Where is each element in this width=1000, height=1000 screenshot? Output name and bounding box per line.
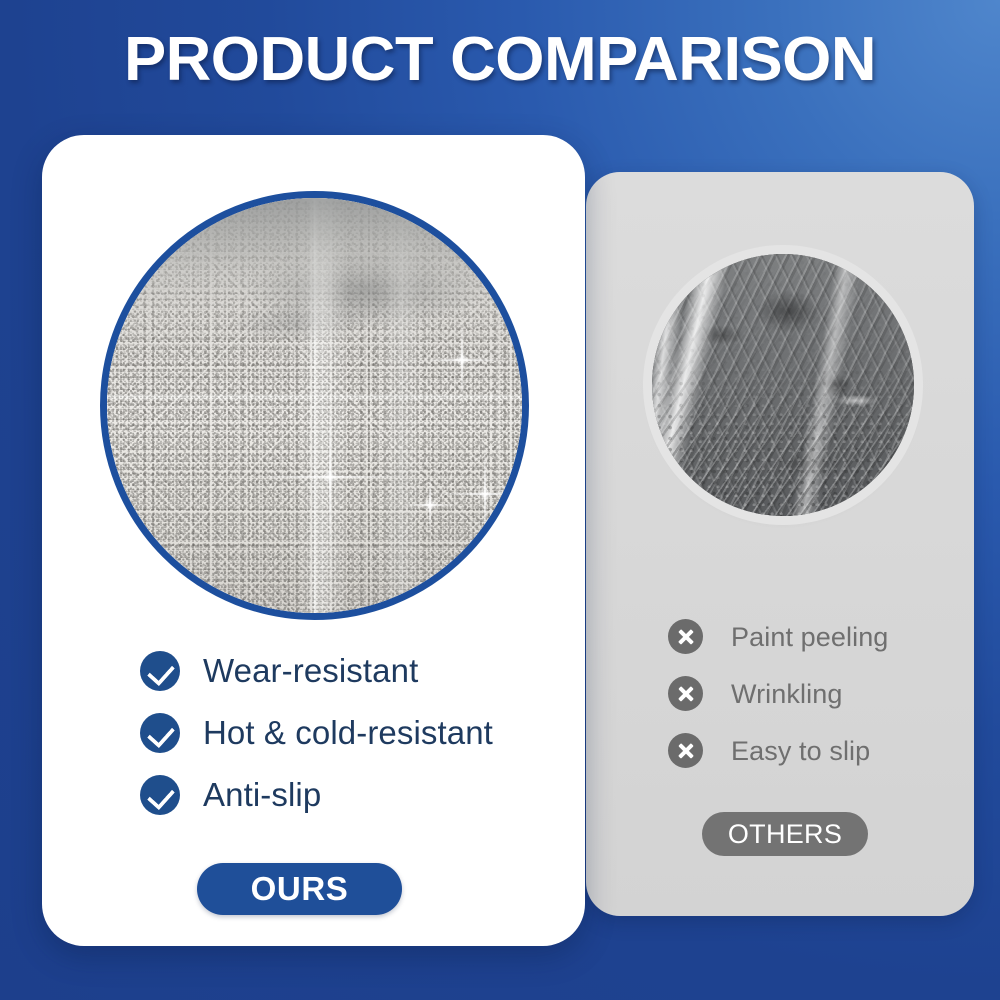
list-item: Hot & cold-resistant (140, 702, 570, 764)
x-circle-icon (668, 676, 703, 711)
check-circle-icon (140, 775, 180, 815)
check-circle-icon (140, 713, 180, 753)
feature-label: Anti-slip (203, 776, 321, 814)
page-title: PRODUCT COMPARISON (0, 26, 1000, 94)
x-circle-icon (668, 733, 703, 768)
list-item: Easy to slip (668, 722, 968, 779)
feature-label: Hot & cold-resistant (203, 714, 493, 752)
ours-product-photo (100, 191, 529, 620)
ours-badge: OURS (197, 863, 402, 915)
drawback-label: Paint peeling (731, 621, 888, 653)
comparison-infographic: PRODUCT COMPARISON Paint peeling Wrinkli… (0, 0, 1000, 1000)
x-circle-icon (668, 619, 703, 654)
ours-feature-list: Wear-resistant Hot & cold-resistant Anti… (140, 640, 570, 826)
others-drawback-list: Paint peeling Wrinkling Easy to slip (668, 608, 968, 779)
others-badge: OTHERS (702, 812, 868, 856)
list-item: Paint peeling (668, 608, 968, 665)
list-item: Anti-slip (140, 764, 570, 826)
ours-photo-texture (107, 198, 522, 613)
ours-badge-label: OURS (251, 870, 349, 908)
others-badge-label: OTHERS (728, 819, 842, 850)
drawback-label: Wrinkling (731, 678, 842, 710)
feature-label: Wear-resistant (203, 652, 418, 690)
list-item: Wear-resistant (140, 640, 570, 702)
others-photo-texture (652, 254, 914, 516)
ours-card: Wear-resistant Hot & cold-resistant Anti… (42, 135, 585, 946)
others-product-photo (652, 254, 914, 516)
list-item: Wrinkling (668, 665, 968, 722)
others-card: Paint peeling Wrinkling Easy to slip OTH… (586, 172, 974, 916)
check-circle-icon (140, 651, 180, 691)
drawback-label: Easy to slip (731, 735, 870, 767)
